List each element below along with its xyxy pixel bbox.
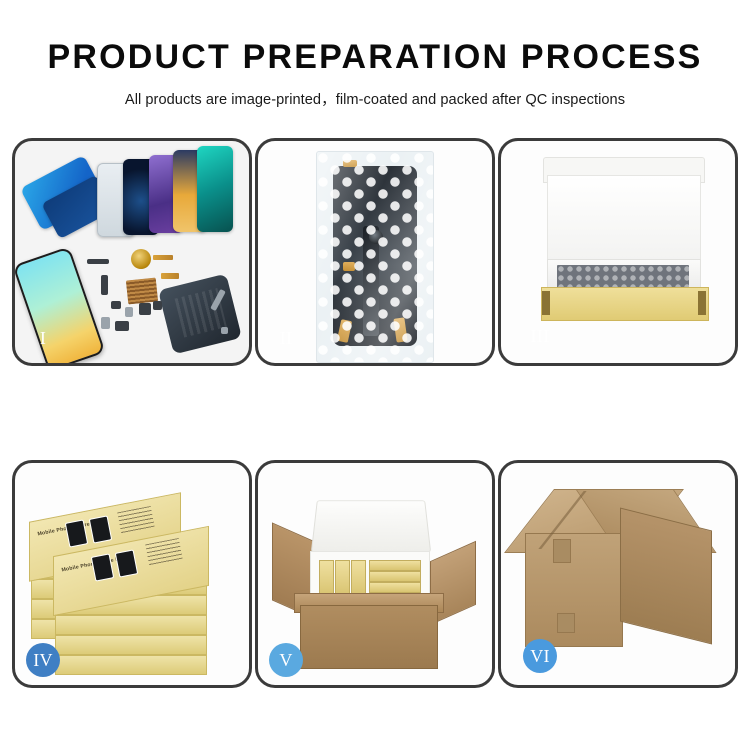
step-badge-6: VI [523, 639, 557, 673]
carton-tape-tab [557, 613, 575, 633]
carton-tape-tab [553, 539, 571, 563]
small-part [115, 321, 129, 331]
process-step-panel-1: I [12, 138, 252, 366]
screw-part [221, 327, 228, 334]
page-title: PRODUCT PREPARATION PROCESS [0, 0, 750, 76]
small-part [139, 303, 151, 315]
plastic-sheen [317, 152, 433, 362]
packed-box [351, 560, 366, 596]
packed-box [369, 571, 421, 582]
step-badge-3: III [523, 319, 557, 353]
step-numeral: IV [33, 651, 53, 669]
process-steps-grid: I II [12, 138, 738, 688]
stacked-box [55, 635, 207, 655]
small-part [101, 317, 110, 329]
step-badge-5: V [269, 643, 303, 677]
process-step-panel-3: III [498, 138, 738, 366]
page-subtitle: All products are image-printed，film-coat… [0, 76, 750, 109]
step-numeral: II [280, 329, 293, 347]
box-front-panel [541, 287, 709, 321]
step-badge-2: II [269, 321, 303, 355]
step-badge-1: I [26, 321, 60, 355]
packed-box [369, 582, 421, 593]
process-step-panel-4: Mobile Phone Spare Parts Mobile Phone Sp… [12, 460, 252, 688]
process-step-panel-5: V [255, 460, 495, 688]
step-numeral: III [531, 327, 550, 345]
header: PRODUCT PREPARATION PROCESS All products… [0, 0, 750, 109]
box-side-tab [698, 291, 706, 315]
carton-side-face [620, 508, 712, 645]
step-numeral: VI [530, 647, 550, 665]
foam-box-lid [311, 500, 431, 552]
packed-box [369, 560, 421, 571]
step-numeral: I [40, 329, 46, 347]
small-part [153, 301, 162, 310]
step-numeral: V [279, 651, 292, 669]
phone-screen-teal [197, 146, 233, 232]
flex-cable-part [161, 273, 179, 279]
speaker-coil-part [131, 249, 151, 269]
packed-box [319, 560, 334, 596]
bubble-wrap-bag [316, 151, 434, 363]
step-badge-4: IV [26, 643, 60, 677]
small-part [87, 259, 109, 264]
small-part [125, 307, 133, 317]
process-step-panel-2: II [255, 138, 495, 366]
process-step-panel-6: VI [498, 460, 738, 688]
box-side-tab [542, 291, 550, 315]
packed-box [335, 560, 350, 596]
carton-front-panel [300, 605, 438, 669]
small-part [101, 275, 108, 295]
small-part [111, 301, 121, 309]
flex-cable-part [153, 255, 173, 260]
stacked-box [55, 615, 207, 635]
phone-back-housing [158, 274, 242, 355]
stacked-box [55, 655, 207, 675]
